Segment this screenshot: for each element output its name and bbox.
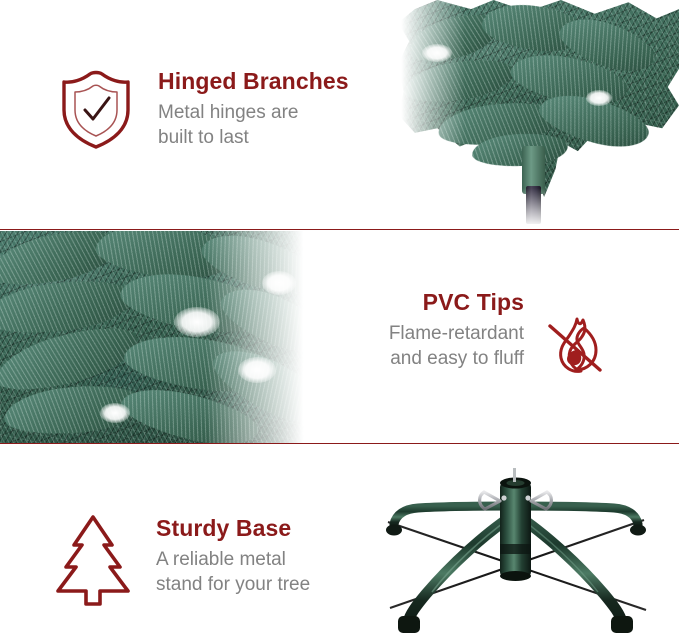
feature-description: A reliable metal stand for your tree (156, 548, 310, 597)
no-flame-icon (542, 312, 608, 380)
shield-check-icon (58, 70, 134, 150)
feature-title: Sturdy Base (156, 515, 310, 541)
hinged-branches-text: Hinged Branches Metal hinges are built t… (158, 68, 349, 150)
metal-tree-stand-photo (352, 462, 679, 637)
feature-description: Metal hinges are built to last (158, 101, 349, 150)
feature-description: Flame-retardant and easy to fluff (318, 322, 524, 371)
artificial-tree-branch-photo (398, 0, 679, 229)
product-feature-infographic: Hinged Branches Metal hinges are built t… (0, 0, 679, 637)
sturdy-base-text: Sturdy Base A reliable metal stand for y… (156, 515, 310, 597)
tree-foliage-closeup-photo (0, 231, 312, 443)
feature-title: PVC Tips (318, 289, 524, 315)
feature-title: Hinged Branches (158, 68, 349, 94)
panel-sturdy-base: Sturdy Base A reliable metal stand for y… (0, 444, 679, 637)
pvc-tips-text: PVC Tips Flame-retardant and easy to flu… (318, 289, 524, 371)
christmas-tree-icon (52, 512, 134, 608)
panel-hinged-branches: Hinged Branches Metal hinges are built t… (0, 0, 679, 230)
panel-pvc-tips: PVC Tips Flame-retardant and easy to flu… (0, 230, 679, 444)
